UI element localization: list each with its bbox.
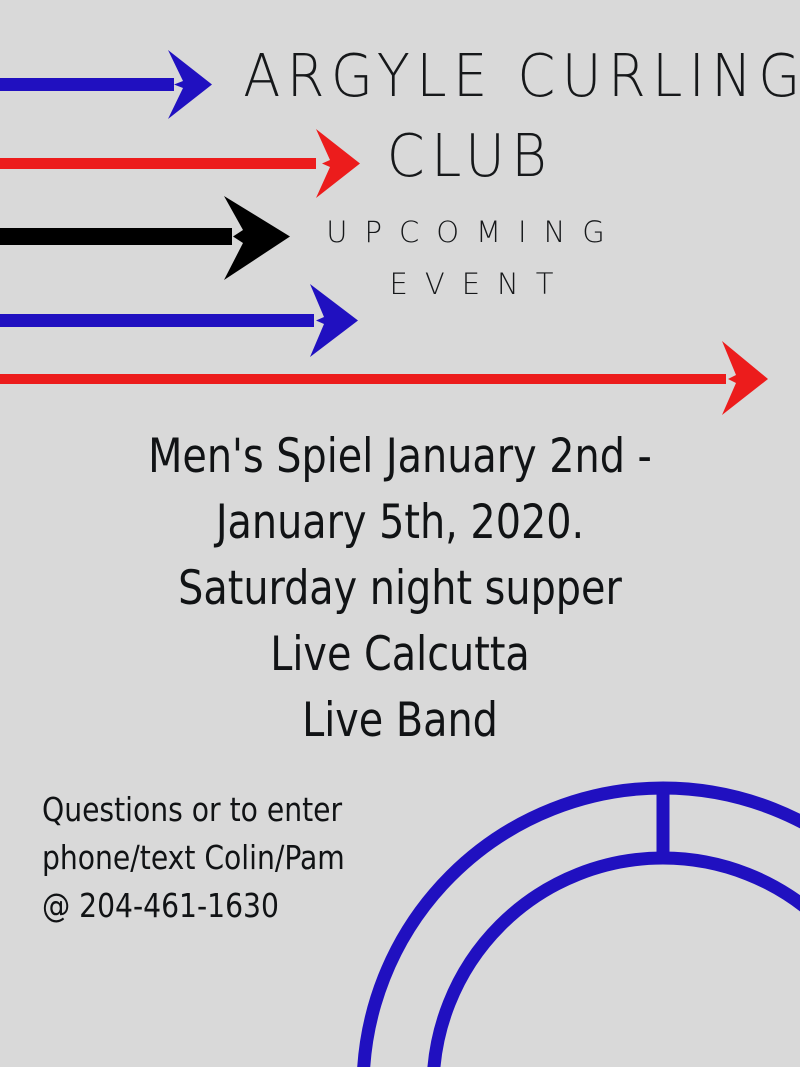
arrow-black-icon <box>0 196 290 280</box>
event-detail-line: Saturday night supper <box>24 556 776 622</box>
event-detail-line: January 5th, 2020. <box>24 490 776 556</box>
poster-canvas: ARGYLE CURLING CLUB UPCOMING EVENT Men's… <box>0 0 800 1067</box>
curling-house-rings-icon <box>340 755 800 1067</box>
arrow-red-long-icon <box>0 341 768 415</box>
arrow-red-upper-icon <box>0 129 360 198</box>
event-detail-line: Live Calcutta <box>24 622 776 688</box>
event-detail-line: Men's Spiel January 2nd - <box>24 424 776 490</box>
arrow-band <box>0 0 800 420</box>
arrow-blue-top-icon <box>0 50 212 119</box>
event-detail-line: Live Band <box>24 688 776 754</box>
event-details-block: Men's Spiel January 2nd - January 5th, 2… <box>0 424 800 754</box>
arrow-blue-lower-icon <box>0 284 358 357</box>
